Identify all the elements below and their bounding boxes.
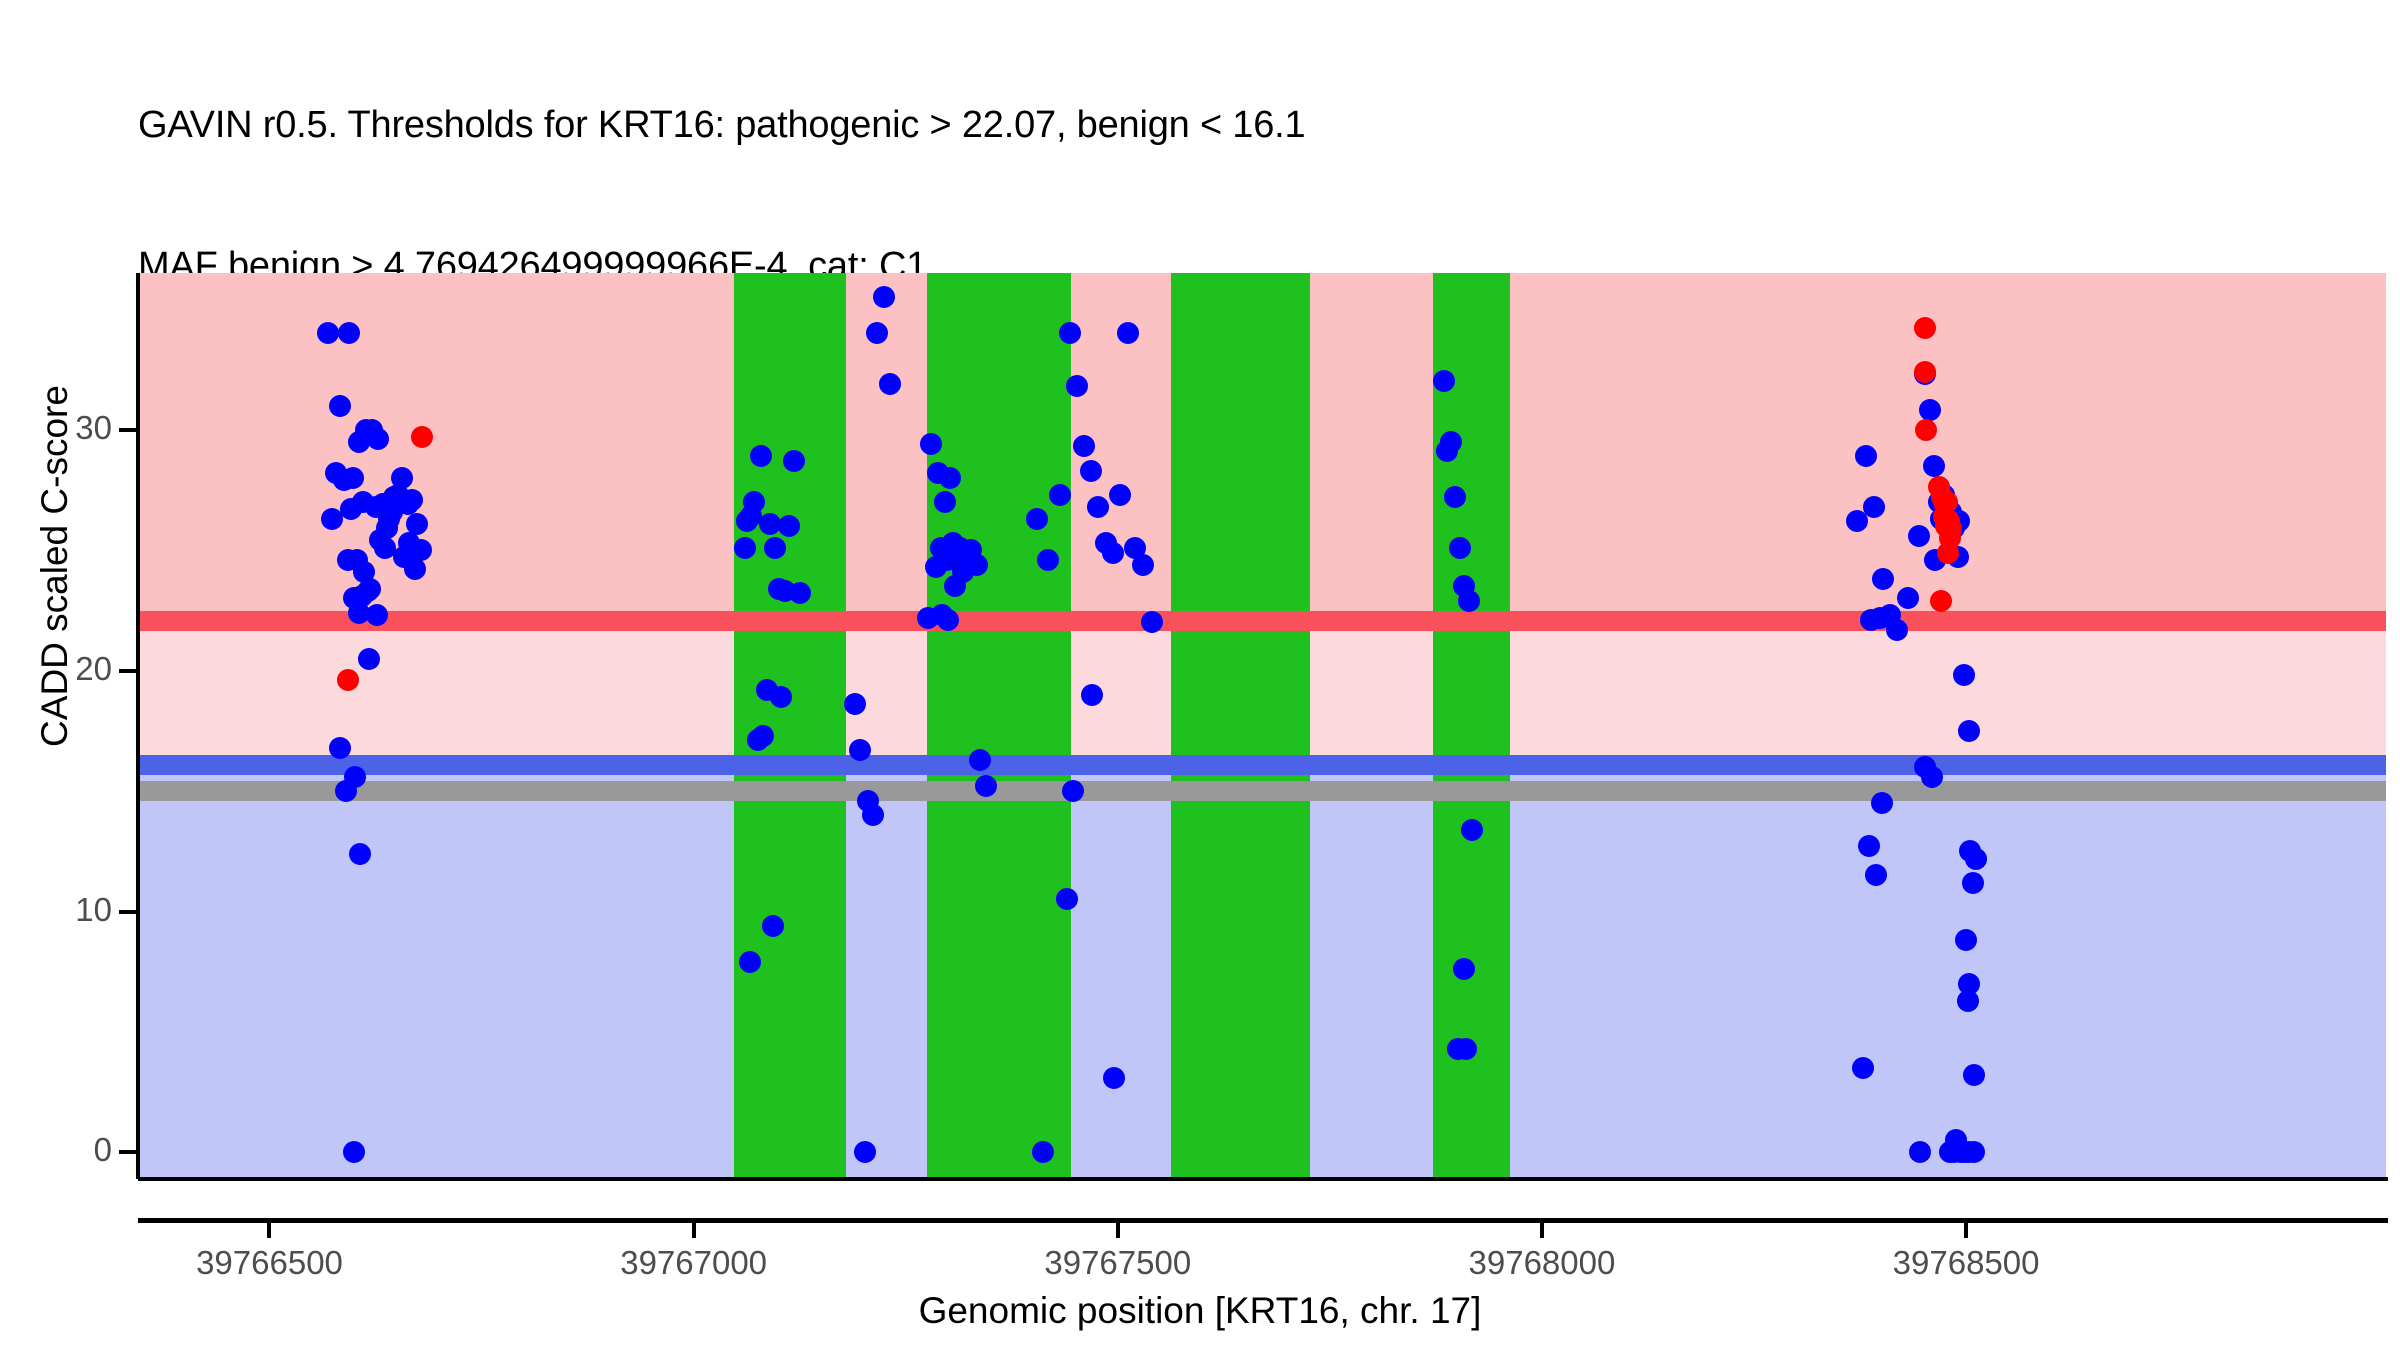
data-point-red <box>411 426 433 448</box>
data-point-blue <box>358 648 380 670</box>
plot-baseline <box>138 1177 2388 1181</box>
data-point-blue <box>1102 542 1124 564</box>
exon-1 <box>734 273 846 1179</box>
data-point-blue <box>866 322 888 344</box>
x-tick-label: 39767000 <box>620 1244 767 1282</box>
data-point-blue <box>762 915 784 937</box>
data-point-blue <box>1461 819 1483 841</box>
data-point-red <box>1915 419 1937 441</box>
data-point-blue <box>944 575 966 597</box>
data-point-blue <box>764 537 786 559</box>
data-point-blue <box>969 749 991 771</box>
data-point-blue <box>939 467 961 489</box>
data-point-blue <box>1963 1064 1985 1086</box>
x-tick-label: 39768500 <box>1893 1244 2040 1282</box>
data-point-blue <box>1886 619 1908 641</box>
data-point-blue <box>1103 1067 1125 1089</box>
data-point-blue <box>351 585 373 607</box>
data-point-blue <box>783 450 805 472</box>
x-axis-line <box>138 1218 2388 1223</box>
data-point-blue <box>844 693 866 715</box>
x-tick-mark <box>1116 1222 1120 1238</box>
fallback-threshold-line <box>138 781 2386 801</box>
data-point-blue <box>752 725 774 747</box>
data-point-blue <box>401 489 423 511</box>
data-point-red <box>1930 590 1952 612</box>
data-point-blue <box>1455 1038 1477 1060</box>
benign-threshold-line <box>138 755 2386 775</box>
data-point-blue <box>344 766 366 788</box>
data-point-blue <box>934 491 956 513</box>
data-point-blue <box>1081 684 1103 706</box>
data-point-blue <box>1080 460 1102 482</box>
y-tick-mark <box>119 1150 136 1154</box>
data-point-blue <box>1962 872 1984 894</box>
data-point-blue <box>1872 568 1894 590</box>
y-tick-label: 10 <box>75 891 112 929</box>
data-point-blue <box>937 609 959 631</box>
data-point-blue <box>337 549 359 571</box>
data-point-blue <box>1087 496 1109 518</box>
pathogenic-threshold-line <box>138 611 2386 631</box>
x-tick-mark <box>1540 1222 1544 1238</box>
data-point-blue <box>917 607 939 629</box>
data-point-blue <box>1921 766 1943 788</box>
data-point-red <box>1937 542 1959 564</box>
data-point-blue <box>1444 486 1466 508</box>
x-tick-mark <box>267 1222 271 1238</box>
data-point-red <box>1914 361 1936 383</box>
data-point-blue <box>1897 587 1919 609</box>
data-point-blue <box>1855 445 1877 467</box>
data-point-blue <box>1037 549 1059 571</box>
data-point-blue <box>1965 848 1987 870</box>
x-tick-label: 39768000 <box>1469 1244 1616 1282</box>
y-tick-label: 20 <box>75 650 112 688</box>
x-axis-label: Genomic position [KRT16, chr. 17] <box>0 1290 2400 1332</box>
data-point-blue <box>1923 455 1945 477</box>
x-tick-mark <box>692 1222 696 1238</box>
x-tick-label: 39767500 <box>1044 1244 1191 1282</box>
data-point-blue <box>349 843 371 865</box>
title-line-1: GAVIN r0.5. Thresholds for KRT16: pathog… <box>138 102 2338 149</box>
y-tick-mark <box>119 669 136 673</box>
data-point-blue <box>1049 484 1071 506</box>
data-point-blue <box>873 286 895 308</box>
y-tick-mark <box>119 428 136 432</box>
data-point-blue <box>1141 611 1163 633</box>
data-point-blue <box>1109 484 1131 506</box>
data-point-blue <box>750 445 772 467</box>
data-point-blue <box>734 537 756 559</box>
data-point-blue <box>1449 537 1471 559</box>
data-point-blue <box>739 951 761 973</box>
data-point-blue <box>1957 990 1979 1012</box>
plot-panel <box>138 273 2386 1179</box>
data-point-blue <box>1958 720 1980 742</box>
y-tick-mark <box>119 910 136 914</box>
data-point-blue <box>1062 780 1084 802</box>
data-point-blue <box>1858 835 1880 857</box>
data-point-blue <box>1132 554 1154 576</box>
data-point-blue <box>329 737 351 759</box>
chart-figure: GAVIN r0.5. Thresholds for KRT16: pathog… <box>0 0 2400 1350</box>
y-tick-label: 0 <box>94 1131 112 1169</box>
data-point-blue <box>849 739 871 761</box>
data-point-red <box>337 669 359 691</box>
data-point-blue <box>789 582 811 604</box>
data-point-blue <box>1026 508 1048 530</box>
exon-2 <box>927 273 1071 1179</box>
data-point-blue <box>1908 525 1930 547</box>
x-tick-label: 39766500 <box>196 1244 343 1282</box>
data-point-blue <box>966 554 988 576</box>
data-point-blue <box>391 467 413 489</box>
data-point-blue <box>1852 1057 1874 1079</box>
y-axis-line <box>136 273 140 1179</box>
exon-3 <box>1171 273 1310 1179</box>
y-axis-label: CADD scaled C-score <box>34 166 76 966</box>
y-tick-label: 30 <box>75 409 112 447</box>
data-point-blue <box>329 395 351 417</box>
data-point-blue <box>1458 590 1480 612</box>
data-point-red <box>1935 515 1957 537</box>
data-point-blue <box>340 498 362 520</box>
data-point-blue <box>770 686 792 708</box>
x-tick-mark <box>1964 1222 1968 1238</box>
